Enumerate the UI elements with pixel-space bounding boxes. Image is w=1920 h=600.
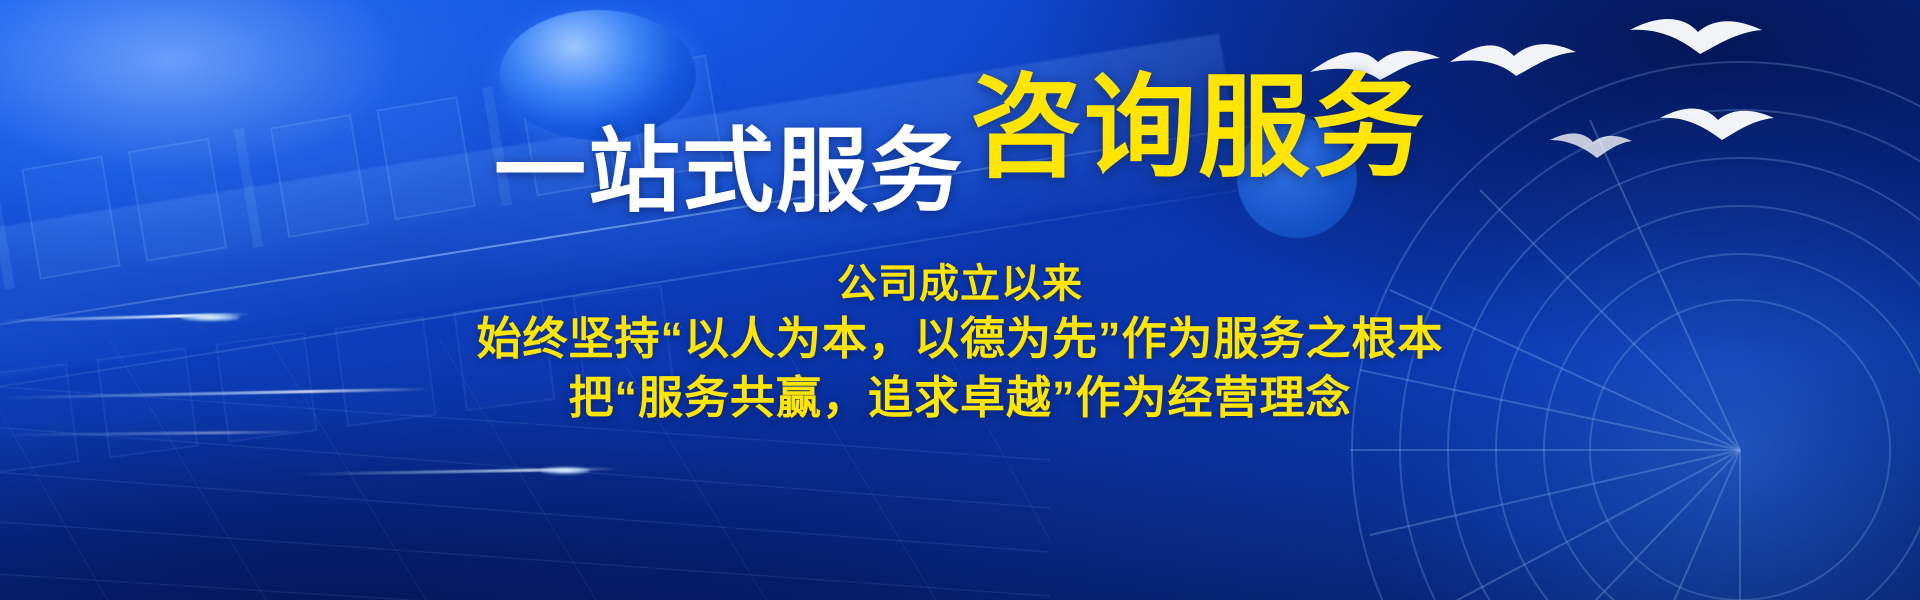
subtitle-line-2: 始终坚持“以人为本，以德为先”作为服务之根本 bbox=[0, 310, 1920, 369]
banner-title: 一站式服务 咨询服务 bbox=[0, 72, 1920, 184]
title-primary-yellow: 咨询服务 bbox=[970, 72, 1426, 184]
subtitle-line-3: 把“服务共赢，追求卓越”作为经营理念 bbox=[0, 369, 1920, 428]
promo-banner: 一站式服务 咨询服务 公司成立以来 始终坚持“以人为本，以德为先”作为服务之根本… bbox=[0, 0, 1920, 600]
title-primary-white: 一站式服务 bbox=[494, 126, 964, 218]
banner-subtitle: 公司成立以来 始终坚持“以人为本，以德为先”作为服务之根本 把“服务共赢，追求卓… bbox=[0, 258, 1920, 427]
seagull-icon bbox=[1630, 19, 1762, 54]
subtitle-line-1: 公司成立以来 bbox=[0, 258, 1920, 310]
light-streak-core bbox=[540, 467, 590, 474]
